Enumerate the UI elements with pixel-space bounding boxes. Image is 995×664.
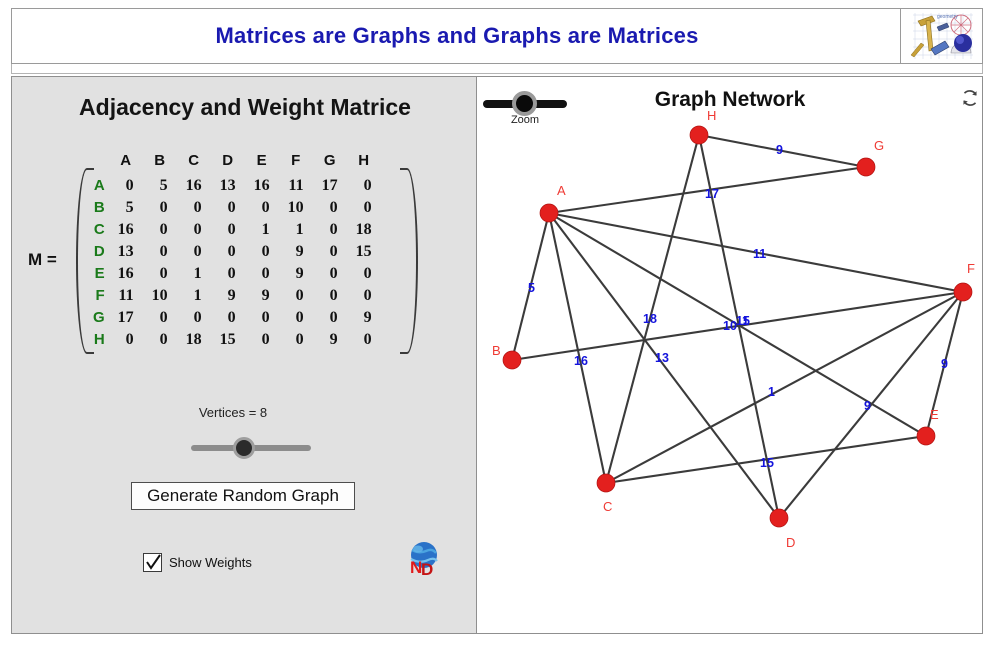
matrix-cell-CB: 0 [143,219,177,241]
edge-weight-AB: 5 [528,281,535,295]
matrix-row-header-H: H [84,329,109,351]
matrix-cell-HA: 0 [109,329,143,351]
matrix-cell-HD: 15 [211,329,245,351]
edge-weight-AF: 11 [753,247,766,261]
table-row: C1600011018 [84,219,381,241]
graph-node-label-C: C [603,499,612,514]
matrix-cell-GC: 0 [177,307,211,329]
matrix-right-paren [400,168,418,354]
matrix-cell-FB: 10 [143,285,177,307]
matrix-cell-GA: 17 [109,307,143,329]
matrix-cell-BG: 0 [313,197,347,219]
matrix-cell-CA: 16 [109,219,143,241]
matrix-cell-DE: 0 [245,241,279,263]
matrix-cell-CD: 0 [211,219,245,241]
graph-node-label-H: H [707,108,716,123]
matrix-row-header-A: A [84,175,109,197]
edge-weight-AC: 16 [574,354,588,368]
edge-weight-AD: 13 [655,351,669,365]
matrix-col-header-D: D [211,150,245,175]
matrix-cell-AD: 13 [211,175,245,197]
matrix-cell-GE: 0 [245,307,279,329]
graph-node-C[interactable] [597,474,615,492]
matrix-cell-ED: 0 [211,263,245,285]
matrix-col-header-E: E [245,150,279,175]
matrix-row-header-B: B [84,197,109,219]
matrix-cell-EA: 16 [109,263,143,285]
matrix-cell-DH: 15 [347,241,381,263]
application-window: Matrices are Graphs and Graphs are Matri… [0,0,995,664]
table-row: G170000009 [84,307,381,329]
graph-node-B[interactable] [503,351,521,369]
table-row: F1110199000 [84,285,381,307]
matrix-col-header-A: A [109,150,143,175]
edge-weight-DH: 15 [736,314,750,328]
graph-node-label-G: G [874,138,884,153]
matrix-cell-FD: 9 [211,285,245,307]
matrix-row-header-G: G [84,307,109,329]
matrix-cell-AG: 17 [313,175,347,197]
vertices-label: Vertices = 8 [0,405,466,420]
matrix-row-header-D: D [84,241,109,263]
matrix-cell-FE: 9 [245,285,279,307]
show-weights-checkbox[interactable] [143,553,162,572]
table-row: E160100900 [84,263,381,285]
matrix-cell-EG: 0 [313,263,347,285]
graph-node-G[interactable] [857,158,875,176]
matrix-cell-AE: 16 [245,175,279,197]
vertices-slider[interactable] [191,440,311,456]
matrix-cell-CC: 0 [177,219,211,241]
matrix-row-header-F: F [84,285,109,307]
matrix-cell-HB: 0 [143,329,177,351]
matrix-cell-DC: 0 [177,241,211,263]
page-title: Matrices are Graphs and Graphs are Matri… [12,9,902,63]
svg-text:geometry: geometry [937,14,958,20]
matrix-cell-DB: 0 [143,241,177,263]
edge-weight-GH: 9 [776,143,783,157]
graph-node-E[interactable] [917,427,935,445]
edge-weight-AG: 17 [705,187,719,201]
matrix-cell-FG: 0 [313,285,347,307]
matrix-cell-DD: 0 [211,241,245,263]
edge-weight-EF: 9 [941,357,948,371]
matrix-cell-FF: 0 [279,285,313,307]
graph-node-label-B: B [492,343,501,358]
matrix-panel-title: Adjacency and Weight Matrice [12,94,478,121]
matrix-cell-BH: 0 [347,197,381,219]
matrix-cell-AA: 0 [109,175,143,197]
graph-node-D[interactable] [770,509,788,527]
show-weights-label: Show Weights [169,555,252,570]
matrix-row-header-C: C [84,219,109,241]
matrix-cell-EH: 0 [347,263,381,285]
matrix-cell-FH: 0 [347,285,381,307]
graph-node-F[interactable] [954,283,972,301]
matrix-cell-EF: 9 [279,263,313,285]
matrix-cell-DG: 0 [313,241,347,263]
graph-edge-CF[interactable] [606,292,963,483]
graph-edge-weights: 5161315111710111891599 [528,143,948,470]
edge-weight-CH: 18 [643,312,657,326]
matrix-cell-AB: 5 [143,175,177,197]
graph-node-H[interactable] [690,126,708,144]
matrix-col-header-C: C [177,150,211,175]
matrix-cell-GG: 0 [313,307,347,329]
matrix-cell-GB: 0 [143,307,177,329]
matrix-col-header-B: B [143,150,177,175]
matrix-cell-AC: 16 [177,175,211,197]
edge-weight-BF: 10 [723,319,737,333]
graph-edge-CH[interactable] [606,135,699,483]
matrix-cell-AF: 11 [279,175,313,197]
matrix-cell-AH: 0 [347,175,381,197]
vertices-slider-handle[interactable] [233,437,255,459]
matrix-cell-DA: 13 [109,241,143,263]
matrix-row-header-E: E [84,263,109,285]
header-sub-strip [11,64,983,74]
table-row: B500001000 [84,197,381,219]
matrix-cell-DF: 9 [279,241,313,263]
graph-network-canvas[interactable]: 5161315111710111891599ABCDEFGH [477,76,983,634]
matrix-cell-HE: 0 [245,329,279,351]
matrix-cell-CH: 18 [347,219,381,241]
matrix-cell-FC: 1 [177,285,211,307]
matrix-col-header-F: F [279,150,313,175]
adjacency-matrix: M = ABCDEFGHA0516131611170B500001000C160… [20,150,440,370]
matrix-cell-BC: 0 [177,197,211,219]
matrix-cell-BB: 0 [143,197,177,219]
graph-node-A[interactable] [540,204,558,222]
matrix-cell-BE: 0 [245,197,279,219]
matrix-cell-EC: 1 [177,263,211,285]
geometry-tools-clipart-icon: geometry [900,9,982,63]
show-weights-control[interactable]: Show Weights [143,553,252,572]
edge-weight-CE: 1 [768,385,775,399]
graph-edge-DF[interactable] [779,292,963,518]
matrix-table: ABCDEFGHA0516131611170B500001000C1600011… [84,150,381,351]
svg-text:D: D [421,560,433,576]
matrix-cell-HH: 0 [347,329,381,351]
edge-weight-DF: 9 [864,399,871,413]
matrix-cell-CG: 0 [313,219,347,241]
graph-node-label-D: D [786,535,795,550]
graph-node-label-A: A [557,183,566,198]
matrix-cell-BD: 0 [211,197,245,219]
graph-node-label-E: E [930,407,939,422]
matrix-cell-CF: 1 [279,219,313,241]
nd-globe-logo-icon: N D [405,540,443,576]
matrix-cell-HG: 9 [313,329,347,351]
matrix-cell-CE: 1 [245,219,279,241]
table-row: A0516131611170 [84,175,381,197]
matrix-col-header-H: H [347,150,381,175]
matrix-cell-BF: 10 [279,197,313,219]
graph-node-label-F: F [967,261,975,276]
matrix-cell-GF: 0 [279,307,313,329]
generate-random-graph-button[interactable]: Generate Random Graph [131,482,355,510]
matrix-cell-EB: 0 [143,263,177,285]
matrix-cell-BA: 5 [109,197,143,219]
matrix-cell-GD: 0 [211,307,245,329]
header-bar: Matrices are Graphs and Graphs are Matri… [11,8,983,64]
matrix-cell-HF: 0 [279,329,313,351]
matrix-cell-FA: 11 [109,285,143,307]
matrix-cell-EE: 0 [245,263,279,285]
edge-weight-AE: 15 [760,456,774,470]
matrix-col-header-G: G [313,150,347,175]
table-row: H0018150090 [84,329,381,351]
matrix-cell-HC: 18 [177,329,211,351]
matrix-cell-GH: 9 [347,307,381,329]
table-row: D1300009015 [84,241,381,263]
matrix-symbol-label: M = [28,250,57,270]
